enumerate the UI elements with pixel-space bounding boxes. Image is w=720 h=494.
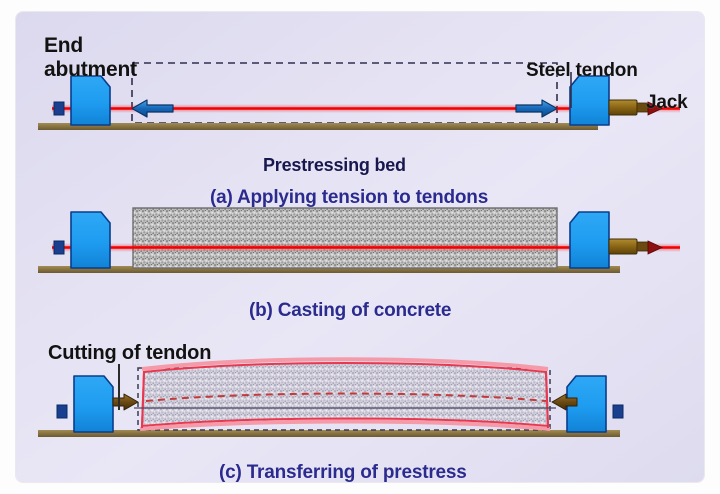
left-end-abutment-c [57, 376, 113, 432]
label-cutting-of-tendon: Cutting of tendon [48, 342, 211, 364]
label-steel-tendon: Steel tendon [526, 60, 638, 81]
diagram-board: End abutment Steel tendon Jack Prestress… [16, 12, 704, 482]
label-jack: Jack [646, 92, 687, 113]
prestressing-bed-c [38, 430, 620, 437]
future-concrete-dashed-outline [132, 63, 557, 123]
label-end-abutment-line1: End [44, 34, 137, 58]
label-prestressing-bed: Prestressing bed [263, 155, 406, 176]
right-end-abutment-a [570, 76, 609, 125]
left-end-abutment-b [54, 212, 110, 268]
prestressing-bed-a [38, 123, 598, 130]
cast-concrete-block [133, 208, 557, 268]
tension-arrow-left-a [132, 100, 173, 117]
cambered-concrete-member [142, 363, 548, 426]
panel-c [38, 359, 623, 437]
pretensioning-diagram [16, 12, 704, 482]
panel-b [38, 208, 680, 273]
caption-panel-c: (c) Transferring of prestress [219, 462, 467, 482]
tension-arrow-right-a [516, 100, 557, 117]
label-end-abutment: End abutment [44, 34, 137, 81]
image-frame: End abutment Steel tendon Jack Prestress… [0, 0, 720, 494]
left-end-abutment-a [54, 76, 110, 125]
label-end-abutment-line2: abutment [44, 58, 137, 82]
caption-panel-b: (b) Casting of concrete [249, 300, 451, 322]
right-end-abutment-b [570, 212, 609, 268]
caption-panel-a: (a) Applying tension to tendons [210, 187, 488, 209]
